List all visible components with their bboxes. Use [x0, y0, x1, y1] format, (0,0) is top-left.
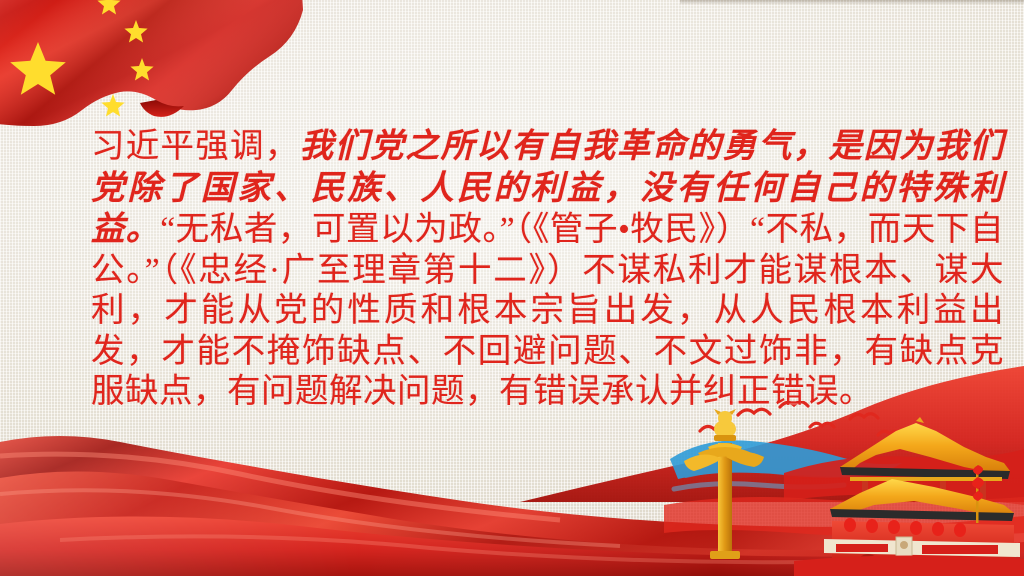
- top-edge-shadow: [680, 0, 1024, 5]
- lead-prefix: 习近平强调，: [91, 128, 300, 165]
- quotation-paragraph: 习近平强调，我们党之所以有自我革命的勇气，是因为我们党除了国家、民族、人民的利益…: [24, 126, 1004, 413]
- gate-banner-left: [836, 544, 888, 552]
- gate-portrait: [896, 537, 912, 557]
- tiananmen-illustration: [664, 401, 1024, 576]
- gate-banner-right: [922, 545, 998, 554]
- slide-canvas: 习近平强调，我们党之所以有自我革命的勇气，是因为我们党除了国家、民族、人民的利益…: [0, 0, 1024, 576]
- quotation-body: 习近平强调，我们党之所以有自我革命的勇气，是因为我们党除了国家、民族、人民的利益…: [24, 126, 1004, 413]
- remaining-text: “无私者，可置以为政。”（《管子•牧民》）“不私，而天下自公。”（《忠经·广至理…: [91, 211, 1004, 410]
